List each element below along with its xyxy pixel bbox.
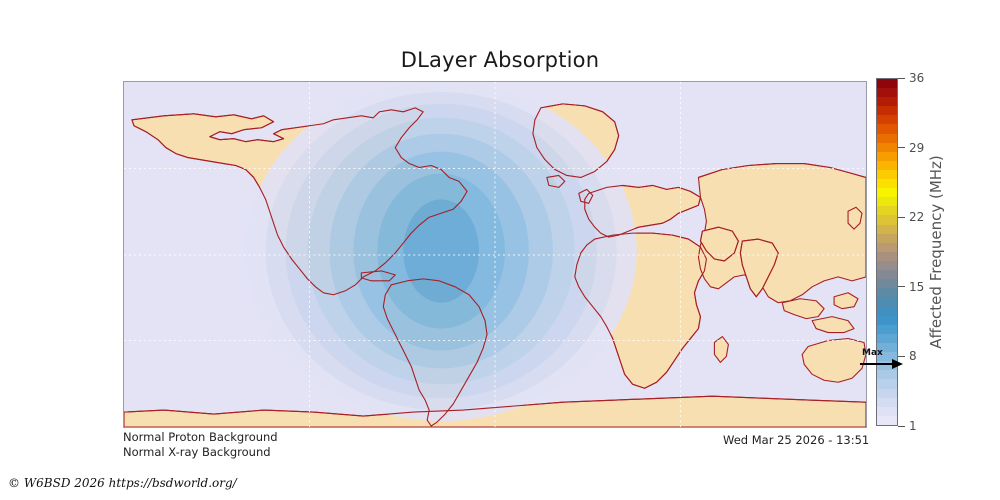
colorbar-band-25 [877, 188, 897, 197]
colorbar-band-13 [877, 297, 897, 306]
colorbar-band-20 [877, 234, 897, 243]
colorbar-band-27 [877, 170, 897, 179]
copyright-footer: © W6BSD 2026 https://bsdworld.org/ [8, 476, 237, 490]
colorbar-band-11 [877, 316, 897, 325]
colorbar-tick-mark [898, 286, 905, 287]
max-marker: Max [858, 349, 904, 373]
colorbar-band-31 [877, 134, 897, 143]
colorbar-band-33 [877, 115, 897, 124]
colorbar-band-29 [877, 152, 897, 161]
colorbar-band-3 [877, 389, 897, 398]
colorbar-tick-mark [898, 78, 905, 79]
background-conditions: Normal Proton Background Normal X-ray Ba… [123, 430, 278, 460]
colorbar-band-34 [877, 106, 897, 115]
colorbar-band-32 [877, 124, 897, 133]
colorbar-band-37 [877, 79, 897, 88]
colorbar-tick-1: 1 [898, 420, 917, 432]
colorbar-band-28 [877, 161, 897, 170]
colorbar-band-35 [877, 97, 897, 106]
colorbar-band-9 [877, 334, 897, 343]
colorbar-axis-label-text: Affected Frequency (MHz) [927, 155, 945, 349]
colorbar-tick-mark [898, 217, 905, 218]
colorbar-tick-mark [898, 426, 905, 427]
max-marker-label: Max [862, 348, 883, 358]
colorbar-band-14 [877, 288, 897, 297]
colorbar-band-1 [877, 407, 897, 416]
xray-background-text: Normal X-ray Background [123, 445, 278, 460]
proton-background-text: Normal Proton Background [123, 430, 278, 445]
colorbar-axis-label: Affected Frequency (MHz) [916, 78, 956, 426]
world-map[interactable] [123, 81, 867, 428]
colorbar-band-0 [877, 416, 897, 425]
colorbar-band-26 [877, 179, 897, 188]
absorption-contours [246, 82, 637, 421]
max-arrow-icon [858, 358, 904, 372]
colorbar-band-19 [877, 243, 897, 252]
map-canvas [124, 82, 866, 427]
colorbar-band-23 [877, 206, 897, 215]
colorbar-band-22 [877, 215, 897, 224]
map-graphic [124, 82, 866, 427]
dlayer-absorption-page: DLayer Absorption [0, 0, 1000, 500]
colorbar-band-17 [877, 261, 897, 270]
timestamp-text: Wed Mar 25 2026 - 13:51 [723, 433, 869, 448]
colorbar-band-24 [877, 197, 897, 206]
colorbar-band-12 [877, 307, 897, 316]
colorbar-band-36 [877, 88, 897, 97]
colorbar-tick-mark [898, 147, 905, 148]
colorbar-band-18 [877, 252, 897, 261]
colorbar-band-10 [877, 325, 897, 334]
colorbar[interactable] [876, 78, 898, 426]
colorbar-band-30 [877, 143, 897, 152]
colorbar-gradient [876, 78, 898, 426]
colorbar-band-4 [877, 379, 897, 388]
colorbar-band-2 [877, 398, 897, 407]
colorbar-band-15 [877, 279, 897, 288]
colorbar-band-21 [877, 225, 897, 234]
page-title: DLayer Absorption [0, 48, 1000, 72]
colorbar-band-16 [877, 270, 897, 279]
